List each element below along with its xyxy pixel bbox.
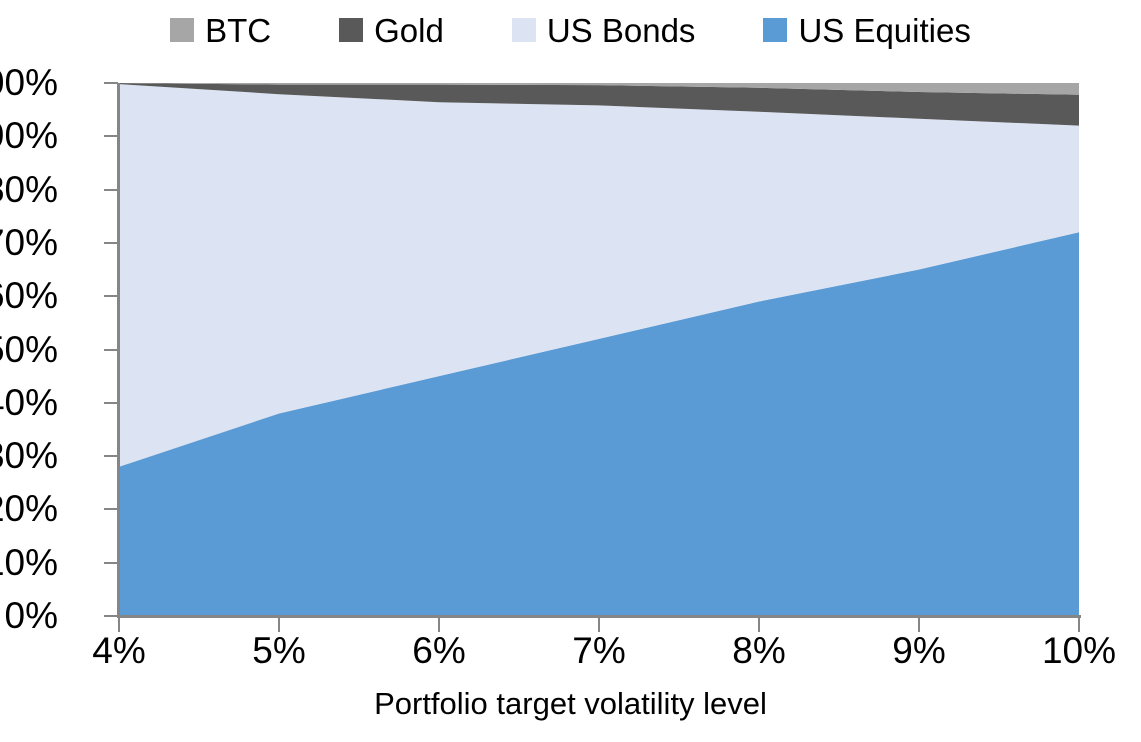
legend-item-btc[interactable]: BTC	[170, 14, 271, 47]
y-tick-label: 70%	[0, 224, 58, 261]
y-tick-mark	[104, 562, 118, 564]
legend-item-us-bonds[interactable]: US Bonds	[512, 14, 696, 47]
x-tick-label: 10%	[1042, 632, 1116, 669]
y-tick-label: 40%	[0, 384, 58, 421]
plot-area	[119, 83, 1079, 616]
y-tick-label: 30%	[0, 437, 58, 474]
y-tick-label: 10%	[0, 544, 58, 581]
y-tick-mark	[104, 82, 118, 84]
y-tick-label: 100%	[0, 64, 58, 101]
legend-item-us-equities[interactable]: US Equities	[763, 14, 970, 47]
legend-label-btc: BTC	[205, 14, 271, 47]
x-tick-label: 5%	[252, 632, 305, 669]
legend-swatch-icon-gold	[339, 18, 363, 42]
series-canvas	[119, 83, 1079, 616]
stacked-area-chart: BTC Gold US Bonds US Equities 0%10%20%30…	[0, 0, 1141, 742]
legend-label-gold: Gold	[374, 14, 444, 47]
y-tick-mark	[104, 242, 118, 244]
y-tick-mark	[104, 455, 118, 457]
y-tick-label: 50%	[0, 331, 58, 368]
y-tick-label: 80%	[0, 171, 58, 208]
y-tick-mark	[104, 349, 118, 351]
y-tick-label: 90%	[0, 117, 58, 154]
x-axis-title: Portfolio target volatility level	[0, 688, 1141, 719]
x-tick-label: 6%	[412, 632, 465, 669]
y-tick-label: 60%	[0, 277, 58, 314]
x-tick-label: 4%	[92, 632, 145, 669]
y-tick-mark	[104, 295, 118, 297]
legend-item-gold[interactable]: Gold	[339, 14, 444, 47]
series-group	[119, 83, 1079, 616]
x-tick-label: 7%	[572, 632, 625, 669]
x-tick-label: 9%	[892, 632, 945, 669]
y-tick-label: 0%	[5, 597, 58, 634]
y-tick-mark	[104, 402, 118, 404]
legend-label-us-equities: US Equities	[798, 14, 970, 47]
legend-swatch-icon-us-bonds	[512, 18, 536, 42]
y-tick-mark	[104, 189, 118, 191]
legend-label-us-bonds: US Bonds	[547, 14, 696, 47]
y-tick-label: 20%	[0, 490, 58, 527]
legend-swatch-icon-btc	[170, 18, 194, 42]
x-tick-label: 8%	[732, 632, 785, 669]
chart-legend: BTC Gold US Bonds US Equities	[0, 8, 1141, 52]
y-tick-mark	[104, 135, 118, 137]
y-tick-mark	[104, 508, 118, 510]
y-tick-mark	[104, 615, 118, 617]
legend-swatch-icon-us-equities	[763, 18, 787, 42]
